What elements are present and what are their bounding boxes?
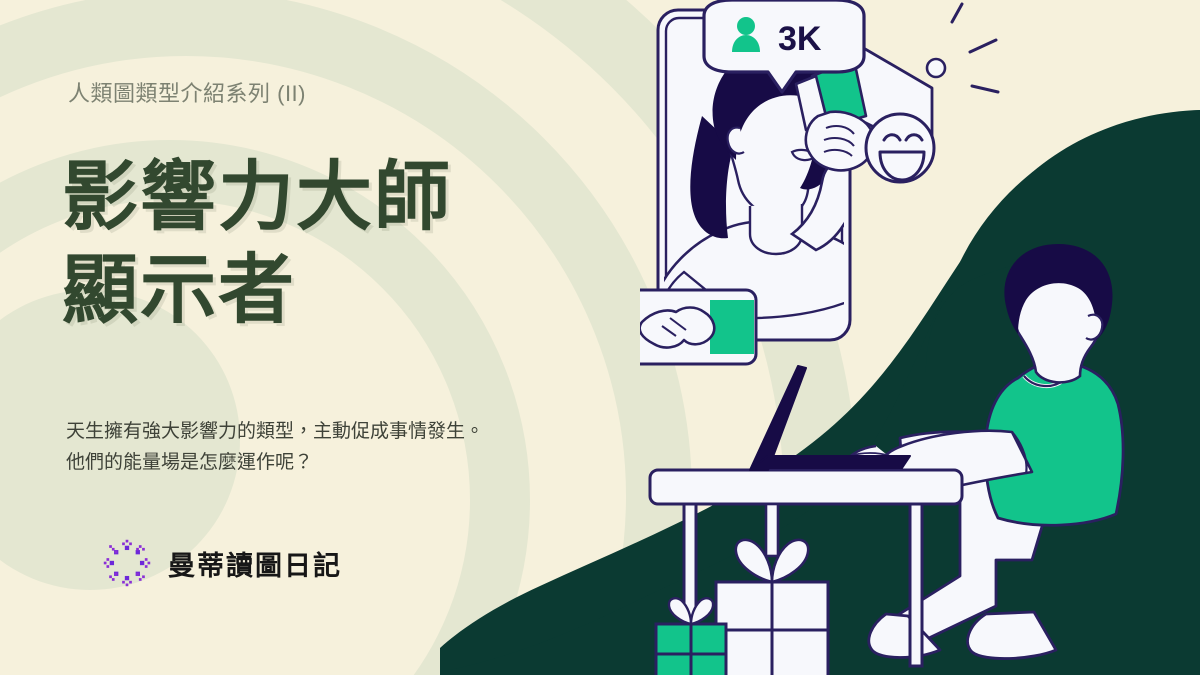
text-column: 人類圖類型介紹系列 (II) 影響力大師 顯示者 天生擁有強大影響力的類型，主動… [0,0,620,675]
description-line-1: 天生擁有強大影響力的類型，主動促成事情發生。 [66,416,484,447]
purple-starburst-mandala-icon [100,536,154,590]
gift-box-large [716,504,828,675]
description-text: 天生擁有強大影響力的類型，主動促成事情發生。 他們的能量場是怎麼運作呢？ [66,416,484,479]
sound-lines [952,4,998,92]
headline-line-1: 影響力大師 [62,152,452,245]
page-title: 影響力大師 顯示者 [62,152,452,337]
follower-count-label: 3K [778,20,822,58]
series-eyebrow: 人類圖類型介紹系列 (II) [68,76,306,108]
handshake-card-icon [640,290,756,364]
brand-lockup[interactable]: 曼蒂讀圖日記 [100,536,342,590]
smiley-face-icon [866,114,934,182]
poster-canvas: 3K 人類圖類型介紹系列 (II) 影響力大師 顯示者 天生擁有強大影響力的類型… [0,0,1200,675]
headline-line-2: 顯示者 [62,245,452,338]
brand-name-label: 曼蒂讀圖日記 [168,544,342,583]
description-line-2: 他們的能量場是怎麼運作呢？ [66,447,484,478]
hero-illustration: 3K [640,0,1200,675]
